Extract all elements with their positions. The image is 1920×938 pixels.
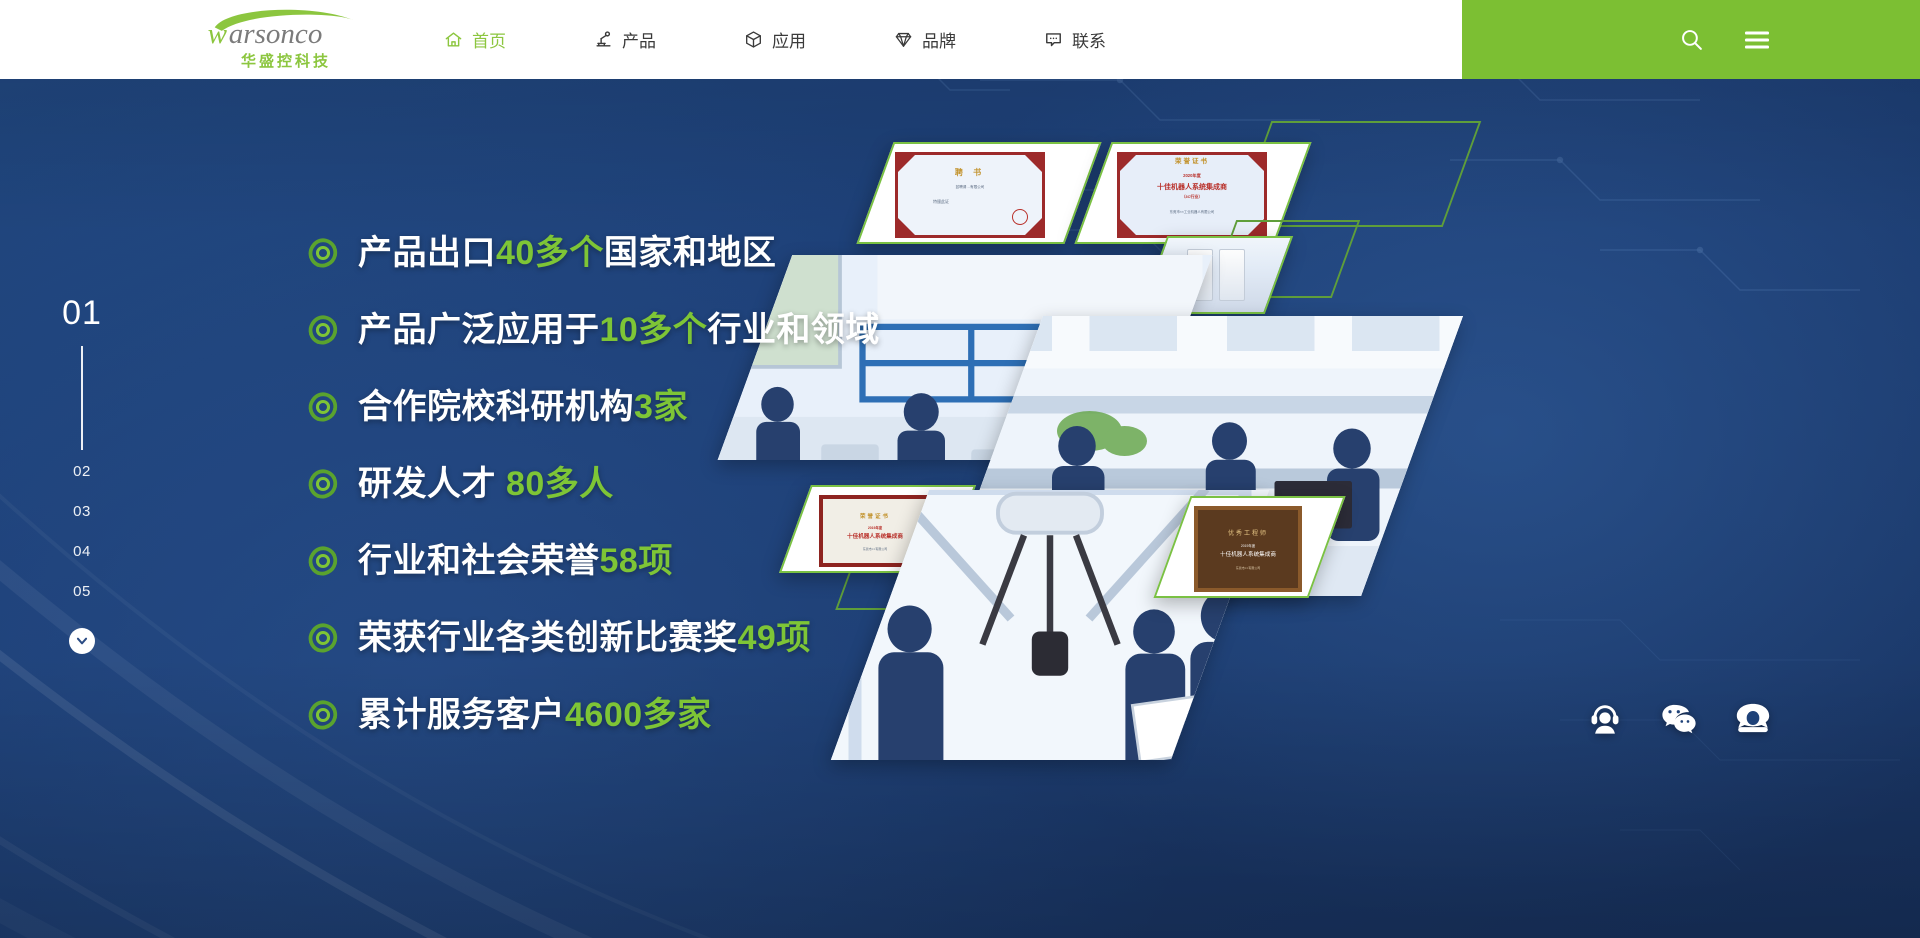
swirl-logo-icon — [306, 621, 340, 655]
logo-chinese-name: 华盛控科技 — [241, 50, 331, 71]
nav-item-label: 产品 — [622, 27, 656, 52]
slide-pagination: 01 02 03 04 05 — [40, 296, 124, 654]
main-navigation: 首页 产品 应用 — [442, 0, 1192, 79]
telephone-icon — [1734, 702, 1772, 734]
header-actions — [1462, 0, 1920, 79]
stat-line-text: 行业和社会荣誉58项 — [358, 544, 673, 578]
headset-service-icon — [1588, 701, 1622, 735]
chat-icon — [1042, 29, 1064, 51]
list-item: 产品广泛应用于10多个行业和领域 — [306, 299, 1206, 361]
stat-line-text: 研发人才 80多人 — [358, 467, 614, 501]
stat-line-text: 荣获行业各类创新比赛奖49项 — [358, 621, 811, 655]
nav-item-label: 首页 — [472, 27, 506, 52]
certificate-line2: 特颁此证 — [933, 199, 949, 205]
swirl-logo-icon — [306, 544, 340, 578]
search-icon — [1679, 27, 1704, 52]
chevron-down-icon — [75, 634, 89, 648]
list-item: 累计服务客户4600多家 — [306, 684, 1206, 746]
stat-pre: 产品出口 — [358, 234, 496, 272]
stat-pre: 行业和社会荣誉 — [358, 542, 600, 580]
pagination-progress-line — [81, 346, 83, 450]
nav-item-brand[interactable]: 品牌 — [892, 27, 1042, 52]
site-header: w arsonco 华盛控科技 首页 — [0, 0, 1920, 79]
stat-number: 49项 — [738, 619, 811, 657]
plaque-line2: 东莞市××有限公司 — [1236, 566, 1261, 570]
stat-line-text: 产品出口40多个国家和地区 — [358, 236, 776, 270]
pagination-item-05[interactable]: 05 — [73, 584, 91, 599]
nav-item-contact[interactable]: 联系 — [1042, 27, 1192, 52]
certificate-line2: （3C行业） — [1181, 194, 1202, 200]
wechat-button[interactable] — [1657, 696, 1701, 740]
swirl-logo-icon — [306, 467, 340, 501]
plaque-title: 优秀工程师 — [1228, 528, 1268, 537]
list-item: 合作院校科研机构3家 — [306, 376, 1206, 438]
page-stage: 聘 书 兹聘请…有限公司 特颁此证 荣誉证书 2020年度 十佳机器人系统集成商 — [0, 0, 1920, 938]
search-button[interactable] — [1674, 23, 1708, 57]
menu-button[interactable] — [1740, 23, 1774, 57]
stat-line-text: 产品广泛应用于10多个行业和领域 — [358, 313, 880, 347]
nav-item-products[interactable]: 产品 — [592, 27, 742, 52]
hero-stats-list: 产品出口40多个国家和地区 产品广泛应用于10多个行业和领域 — [306, 222, 1206, 761]
home-icon — [442, 29, 464, 51]
nav-item-home[interactable]: 首页 — [442, 27, 592, 52]
certificate-line1: 十佳机器人系统集成商 — [1157, 182, 1227, 192]
robot-arm-icon — [592, 29, 614, 51]
stat-line-text: 合作院校科研机构3家 — [358, 390, 688, 424]
stat-pre: 研发人才 — [358, 465, 506, 503]
floating-contact-bar — [1583, 696, 1775, 740]
stat-pre: 合作院校科研机构 — [358, 388, 634, 426]
list-item: 产品出口40多个国家和地区 — [306, 222, 1206, 284]
stat-number: 58项 — [600, 542, 673, 580]
certificate-title: 荣誉证书 — [1175, 155, 1209, 165]
wechat-icon — [1661, 702, 1697, 734]
stat-number: 80多人 — [506, 465, 614, 503]
list-item: 行业和社会荣誉58项 — [306, 530, 1206, 592]
svg-text:arsonco: arsonco — [229, 18, 323, 50]
scroll-down-button[interactable] — [69, 628, 95, 654]
stat-pre: 荣获行业各类创新比赛奖 — [358, 619, 738, 657]
list-item: 荣获行业各类创新比赛奖49项 — [306, 607, 1206, 669]
stat-number: 3家 — [634, 388, 688, 426]
stat-number: 4600多家 — [565, 696, 712, 734]
logo-wordmark: w arsonco — [201, 8, 371, 52]
hamburger-menu-icon — [1743, 29, 1771, 51]
nav-item-label: 联系 — [1072, 27, 1106, 52]
nav-item-applications[interactable]: 应用 — [742, 27, 892, 52]
certificate-line1: 兹聘请…有限公司 — [956, 185, 985, 190]
pagination-current: 01 — [62, 296, 102, 330]
nav-item-label: 应用 — [772, 27, 806, 52]
certificate-year: 2020年度 — [1183, 173, 1201, 179]
online-service-button[interactable] — [1583, 696, 1627, 740]
pagination-item-02[interactable]: 02 — [73, 464, 91, 479]
stat-pre: 累计服务客户 — [358, 696, 565, 734]
certificate-title: 聘 书 — [955, 167, 985, 178]
pagination-item-04[interactable]: 04 — [73, 544, 91, 559]
plaque-line1: 十佳机器人系统集成商 — [1220, 550, 1276, 558]
swirl-logo-icon — [306, 698, 340, 732]
certificate-plaque-gold: 优秀工程师 2019年度 十佳机器人系统集成商 东莞市××有限公司 — [1194, 506, 1302, 592]
list-item: 研发人才 80多人 — [306, 453, 1206, 515]
swirl-logo-icon — [306, 313, 340, 347]
stat-pre: 产品广泛应用于 — [358, 311, 600, 349]
stat-post: 行业和领域 — [707, 311, 880, 349]
stat-post: 国家和地区 — [604, 234, 777, 272]
diamond-icon — [892, 29, 914, 51]
swirl-logo-icon — [306, 236, 340, 270]
site-logo[interactable]: w arsonco 华盛控科技 — [196, 0, 376, 79]
nav-item-label: 品牌 — [922, 27, 956, 52]
svg-text:w: w — [208, 18, 228, 50]
stat-number: 10多个 — [600, 311, 708, 349]
cube-icon — [742, 29, 764, 51]
swirl-logo-icon — [306, 390, 340, 424]
pagination-item-03[interactable]: 03 — [73, 504, 91, 519]
plaque-year: 2019年度 — [1241, 543, 1255, 548]
certificate-line3: 东莞市××工业机器人有限公司 — [1170, 209, 1215, 214]
telephone-button[interactable] — [1731, 696, 1775, 740]
stat-line-text: 累计服务客户4600多家 — [358, 698, 712, 732]
stat-number: 40多个 — [496, 234, 604, 272]
